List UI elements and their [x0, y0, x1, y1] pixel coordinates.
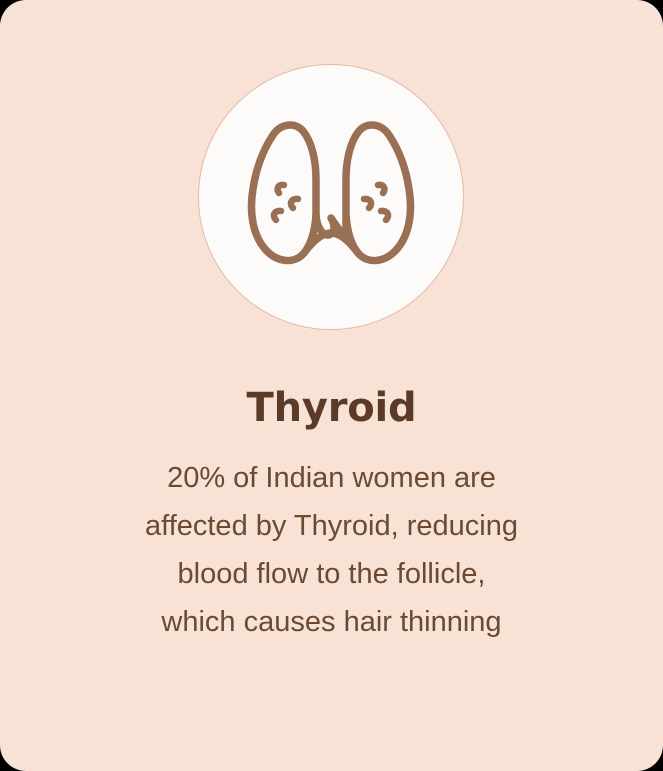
thyroid-left-lobe [252, 125, 317, 261]
thyroid-info-card: Thyroid 20% of Indian women are affected… [0, 0, 663, 771]
thyroid-gland-icon [243, 119, 419, 275]
thyroid-mark-left-3 [274, 211, 281, 220]
thyroid-mark-right-3 [381, 211, 388, 220]
thyroid-mark-left-2 [291, 199, 298, 208]
card-text-block: Thyroid 20% of Indian women are affected… [0, 386, 663, 646]
thyroid-icon-badge [198, 64, 464, 330]
card-description: 20% of Indian women are affected by Thyr… [72, 430, 592, 646]
thyroid-mark-left-1 [278, 185, 284, 193]
thyroid-mark-right-1 [378, 185, 384, 193]
card-title: Thyroid [0, 386, 663, 430]
thyroid-right-lobe [346, 125, 411, 261]
thyroid-mark-right-2 [364, 199, 371, 208]
